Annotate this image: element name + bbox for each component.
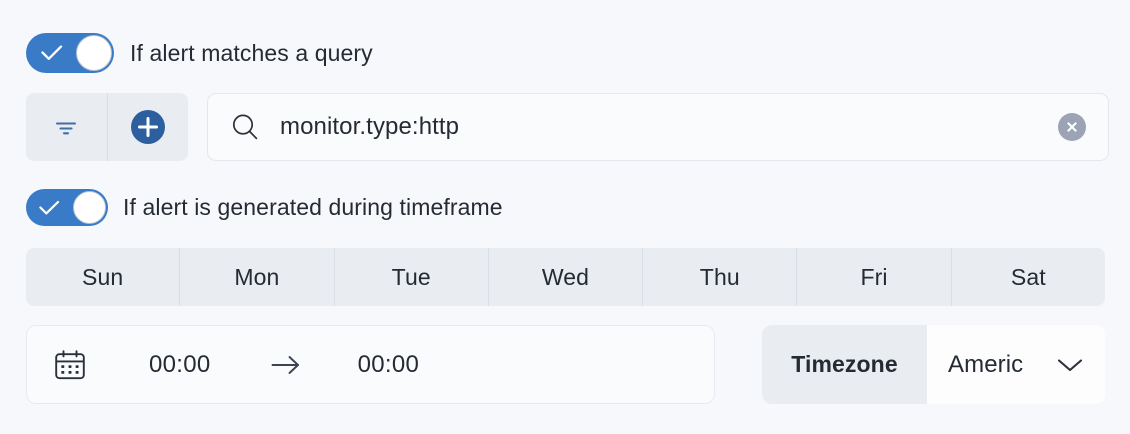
query-actions-group (26, 93, 188, 161)
timeframe-condition-toggle[interactable] (26, 189, 108, 226)
query-search-value: monitor.type:http (280, 113, 459, 141)
timezone-select[interactable]: Americ (927, 325, 1105, 404)
query-condition-row: If alert matches a query (26, 33, 373, 73)
checkmark-icon (41, 45, 63, 61)
toggle-knob (73, 191, 106, 224)
search-icon (230, 112, 260, 142)
query-search-field[interactable]: monitor.type:http (207, 93, 1109, 161)
query-condition-toggle[interactable] (26, 33, 114, 73)
day-button-thu[interactable]: Thu (642, 248, 796, 306)
time-from-value[interactable]: 00:00 (149, 351, 211, 379)
timezone-label: Timezone (762, 325, 927, 404)
day-button-tue[interactable]: Tue (334, 248, 488, 306)
query-condition-label: If alert matches a query (130, 40, 373, 67)
clear-query-button[interactable] (1058, 113, 1086, 141)
toggle-knob (76, 35, 112, 71)
day-button-fri[interactable]: Fri (796, 248, 950, 306)
time-to-value[interactable]: 00:00 (358, 351, 420, 379)
day-button-sun[interactable]: Sun (26, 248, 179, 306)
day-button-mon[interactable]: Mon (179, 248, 333, 306)
plus-circle-icon (130, 109, 166, 145)
filter-button[interactable] (26, 93, 107, 161)
add-query-button[interactable] (107, 93, 189, 161)
timeframe-condition-label: If alert is generated during timeframe (123, 194, 503, 221)
timezone-value: Americ (948, 351, 1023, 379)
alert-conditions-panel: If alert matches a query (0, 0, 1130, 434)
time-range-field[interactable]: 00:00 00:00 (26, 325, 715, 404)
timezone-field: Timezone Americ (762, 325, 1105, 404)
day-button-wed[interactable]: Wed (488, 248, 642, 306)
checkmark-icon (39, 200, 60, 215)
filter-icon (53, 117, 79, 137)
query-bar: monitor.type:http (26, 93, 1109, 161)
arrow-right-icon (270, 354, 302, 376)
day-of-week-selector: Sun Mon Tue Wed Thu Fri Sat (26, 248, 1105, 306)
chevron-down-icon (1056, 356, 1084, 374)
calendar-icon (53, 348, 87, 382)
timeframe-condition-row: If alert is generated during timeframe (26, 189, 503, 226)
day-button-sat[interactable]: Sat (951, 248, 1105, 306)
clear-icon (1065, 120, 1079, 134)
